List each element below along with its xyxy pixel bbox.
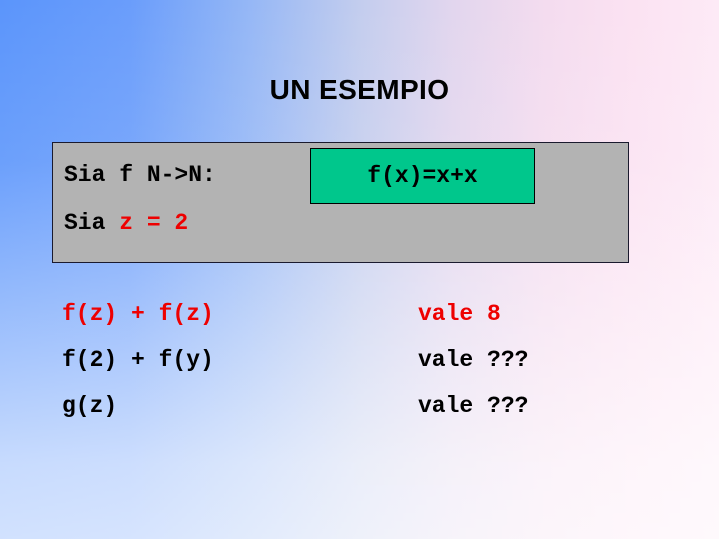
expression-row: f(z) + f(z) vale 8	[62, 299, 662, 345]
formula-box: f(x)=x+x	[310, 148, 535, 204]
expression-result: vale ???	[418, 391, 528, 421]
definition-line2-prefix: Sia	[64, 210, 119, 236]
expression-list: f(z) + f(z) vale 8 f(2) + f(y) vale ??? …	[62, 299, 662, 437]
definition-line-function-signature: Sia f N->N:	[64, 161, 216, 189]
definition-line-variable-assignment: Sia z = 2	[64, 209, 188, 237]
expression-result: vale 8	[418, 299, 501, 329]
definition-line2-highlight: z = 2	[119, 210, 188, 236]
expression-row: f(2) + f(y) vale ???	[62, 345, 662, 391]
expression-row: g(z) vale ???	[62, 391, 662, 437]
expression-text: g(z)	[62, 391, 117, 421]
formula-text: f(x)=x+x	[367, 163, 477, 189]
expression-text: f(z) + f(z)	[62, 299, 214, 329]
slide-canvas: UN ESEMPIO Sia f N->N: Sia z = 2 f(x)=x+…	[0, 0, 719, 539]
expression-result: vale ???	[418, 345, 528, 375]
page-title: UN ESEMPIO	[0, 74, 719, 106]
expression-text: f(2) + f(y)	[62, 345, 214, 375]
